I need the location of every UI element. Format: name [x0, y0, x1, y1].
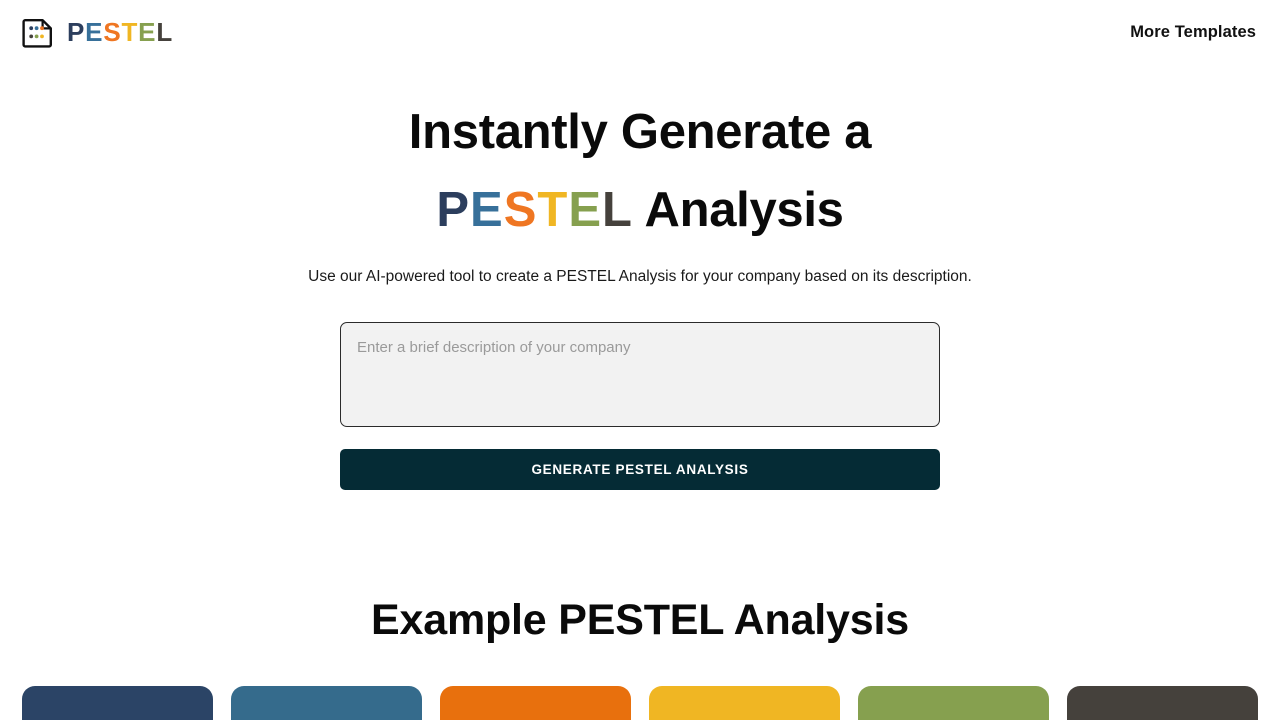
hero-subtitle: Use our AI-powered tool to create a PEST…	[0, 266, 1280, 288]
example-card-technological[interactable]	[649, 686, 840, 720]
pestel-document-dots-icon	[22, 16, 55, 49]
generator-form: GENERATE PESTEL ANALYSIS	[340, 322, 940, 490]
pestel-letter-s: S	[504, 183, 538, 237]
example-card-political[interactable]	[22, 686, 213, 720]
examples-section-heading: Example PESTEL Analysis	[0, 596, 1280, 645]
page-title-analysis-suffix: Analysis	[633, 183, 844, 237]
site-header: PESTEL More Templates	[0, 0, 1280, 64]
example-card-social[interactable]	[440, 686, 631, 720]
example-cards-row	[22, 686, 1258, 720]
example-card-legal[interactable]	[1067, 686, 1258, 720]
brand-wordmark: PESTEL	[67, 19, 173, 45]
page-title-line-1: Instantly Generate a	[0, 104, 1280, 162]
company-description-input[interactable]	[340, 322, 940, 427]
example-card-environmental[interactable]	[858, 686, 1049, 720]
pestel-letter-t: T	[537, 183, 568, 237]
pestel-letter-t: T	[121, 17, 138, 47]
pestel-letter-l: L	[156, 17, 173, 47]
pestel-letter-p: P	[436, 183, 470, 237]
hero-section: Instantly Generate a PESTEL Analysis Use…	[0, 104, 1280, 287]
generate-pestel-analysis-button[interactable]: GENERATE PESTEL ANALYSIS	[340, 449, 940, 490]
pestel-letter-s: S	[103, 17, 121, 47]
nav-more-templates-link[interactable]: More Templates	[1130, 23, 1256, 42]
example-card-economic[interactable]	[231, 686, 422, 720]
page-title-line-2: PESTEL Analysis	[0, 182, 1280, 240]
pestel-letter-l: L	[602, 183, 633, 237]
pestel-colored-wordmark: PESTEL	[436, 183, 633, 237]
pestel-letter-e: E	[85, 17, 103, 47]
pestel-letter-e: E	[470, 183, 504, 237]
pestel-letter-e: E	[138, 17, 156, 47]
brand-logo-link[interactable]: PESTEL	[22, 16, 173, 49]
pestel-letter-e: E	[568, 183, 602, 237]
pestel-letter-p: P	[67, 17, 85, 47]
